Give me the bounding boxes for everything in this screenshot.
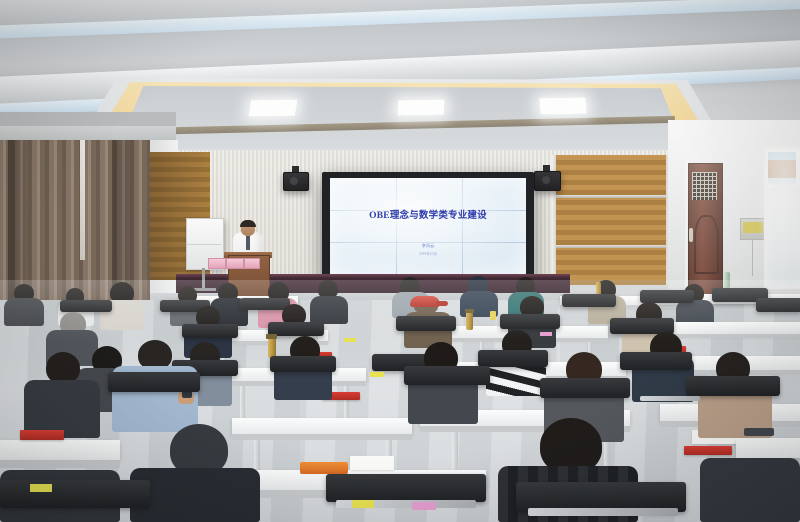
screen-glare xyxy=(330,178,526,274)
chair-label-yellow-1 xyxy=(344,338,356,342)
gold-thermos-cap-row3 xyxy=(266,334,277,339)
chair-back-row2-3[interactable] xyxy=(540,378,630,398)
chair-back-row3-5[interactable] xyxy=(620,352,692,370)
slide-title: OBE理念与数学类专业建设 xyxy=(330,207,526,221)
device-on-desk-farright xyxy=(744,428,774,436)
chair-back-row4-1[interactable] xyxy=(182,324,238,338)
wood-panel-right xyxy=(556,155,668,285)
desk-row1-farleft xyxy=(0,440,120,460)
desk-row3-leg-a xyxy=(240,386,245,420)
gold-thermos-cap-row4 xyxy=(465,309,474,313)
audience-torso-front-farright xyxy=(700,458,800,522)
chair-back-row4-4[interactable] xyxy=(500,314,560,329)
chair-back-row3-2[interactable] xyxy=(270,356,336,372)
chair-label-yellow-3 xyxy=(352,500,374,508)
presenter-hair xyxy=(240,220,256,227)
paper-row1 xyxy=(350,456,394,470)
chair-frame-row1-3 xyxy=(528,508,678,516)
lectern-placard-1 xyxy=(208,258,226,269)
red-folder-row1-left xyxy=(20,430,64,440)
chair-back-row2-2[interactable] xyxy=(404,366,490,385)
chair-back-row4-3[interactable] xyxy=(396,316,456,331)
chair-back-far-7[interactable] xyxy=(756,298,800,312)
gold-thermos-row4 xyxy=(466,312,473,330)
speaker-cone-right-icon xyxy=(542,176,550,184)
orange-item-on-desk xyxy=(300,462,348,474)
chair-label-yellow-4 xyxy=(30,484,52,492)
presenter-tie xyxy=(246,236,250,250)
green-thermos xyxy=(724,272,730,288)
chair-back-far-1[interactable] xyxy=(60,300,112,312)
lectern-placard-2 xyxy=(226,258,244,269)
chair-back-row1-2[interactable] xyxy=(326,474,486,502)
chair-back-row2-1[interactable] xyxy=(108,372,200,392)
whiteboard-divider xyxy=(186,244,222,245)
lectern-placard-3 xyxy=(244,258,260,269)
curtain-daylight-gap xyxy=(80,140,85,260)
chair-back-row3-4[interactable] xyxy=(478,350,548,367)
chair-label-yellow-2 xyxy=(370,372,384,377)
desk-row2-left xyxy=(232,418,412,434)
yellow-cup xyxy=(490,311,496,320)
slide-date: 2019年10月 xyxy=(330,252,526,257)
chair-frame-row2 xyxy=(640,396,700,401)
desk-row1-farright xyxy=(736,438,800,458)
chair-back-far-4[interactable] xyxy=(562,294,616,307)
lecture-hall-photograph: OBE理念与数学类专业建设 李凤云 2019年10月 xyxy=(0,0,800,522)
chair-label-pink-3 xyxy=(412,502,436,510)
chair-back-far-3[interactable] xyxy=(240,298,290,310)
ceiling-led-panel-2 xyxy=(398,100,445,116)
audience-torso-d xyxy=(310,296,348,324)
chair-label-pink-1 xyxy=(540,332,552,336)
wood-panel-metal-trim-1 xyxy=(556,195,668,198)
wood-panel-metal-trim-2 xyxy=(556,245,668,248)
ceiling-led-panel-3 xyxy=(539,98,586,115)
red-folder-row2-right xyxy=(684,446,732,455)
gold-thermos-row3 xyxy=(268,338,276,358)
chair-back-row2-4[interactable] xyxy=(686,376,780,396)
chair-back-row1-1[interactable] xyxy=(0,480,150,508)
red-cap-brim xyxy=(436,301,448,306)
ceiling-led-panel-1 xyxy=(249,100,298,117)
audience-torso-16 xyxy=(4,298,44,326)
desk-row1-farleft-edge xyxy=(0,460,120,468)
whiteboard-stand-leg xyxy=(202,268,205,290)
speaker-cone-left-icon xyxy=(290,177,298,185)
slide-presenter-name: 李凤云 xyxy=(330,243,526,249)
